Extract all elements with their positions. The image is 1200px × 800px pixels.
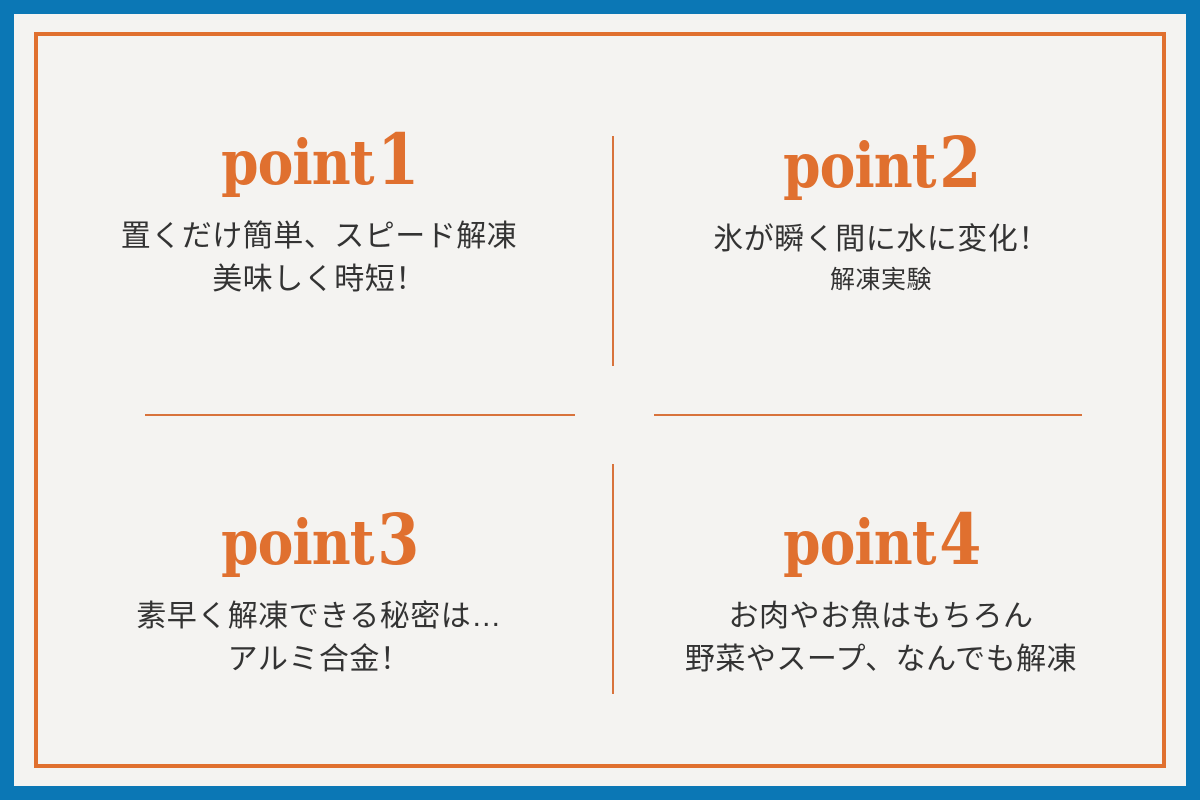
- point-body-line-1-2: 美味しく時短！: [121, 258, 518, 302]
- point-body-4: お肉やお魚はもちろん 野菜やスープ、なんでも解凍: [685, 595, 1077, 682]
- point-body-line-3-1: 素早く解凍できる秘密は…: [136, 595, 501, 639]
- divider-vertical-top: [612, 136, 614, 366]
- point-body-3: 素早く解凍できる秘密は… アルミ合金！: [136, 595, 501, 682]
- point-heading-3: point3: [221, 505, 417, 575]
- point-heading-number-1: 1: [377, 118, 417, 201]
- point-body-line-1-1: 置くだけ簡単、スピード解凍: [121, 215, 518, 259]
- point-body-line-3-2: アルミ合金！: [136, 638, 501, 682]
- point-heading-number-2: 2: [939, 121, 979, 204]
- point-heading-prefix-3: point: [221, 506, 373, 579]
- point-body-line-2-2: 解凍実験: [713, 262, 1049, 298]
- point-body-line-4-1: お肉やお魚はもちろん: [685, 595, 1077, 639]
- point-heading-1: point1: [221, 125, 417, 195]
- cream-panel: point1 置くだけ簡単、スピード解凍 美味しく時短！ point2 氷が瞬く…: [14, 14, 1186, 786]
- point-heading-4: point4: [783, 505, 979, 575]
- point-card-2: point2 氷が瞬く間に水に変化！ 解凍実験: [600, 36, 1162, 400]
- divider-horizontal-right: [654, 414, 1082, 416]
- divider-vertical-bottom: [612, 464, 614, 694]
- point-heading-prefix-4: point: [783, 506, 935, 579]
- points-grid: point1 置くだけ簡単、スピード解凍 美味しく時短！ point2 氷が瞬く…: [38, 36, 1162, 764]
- point-heading-number-4: 4: [939, 498, 979, 581]
- point-body-line-2-1: 氷が瞬く間に水に変化！: [713, 218, 1049, 262]
- point-card-4: point4 お肉やお魚はもちろん 野菜やスープ、なんでも解凍: [600, 400, 1162, 764]
- point-body-2: 氷が瞬く間に水に変化！ 解凍実験: [713, 218, 1049, 298]
- divider-horizontal-left: [145, 414, 575, 416]
- point-heading-2: point2: [783, 128, 979, 198]
- point-body-line-4-2: 野菜やスープ、なんでも解凍: [685, 638, 1077, 682]
- point-heading-prefix-1: point: [221, 126, 373, 199]
- point-body-1: 置くだけ簡単、スピード解凍 美味しく時短！: [121, 215, 518, 302]
- point-card-1: point1 置くだけ簡単、スピード解凍 美味しく時短！: [38, 36, 600, 400]
- point-heading-number-3: 3: [377, 498, 417, 581]
- point-card-3: point3 素早く解凍できる秘密は… アルミ合金！: [38, 400, 600, 764]
- point-heading-prefix-2: point: [783, 129, 935, 202]
